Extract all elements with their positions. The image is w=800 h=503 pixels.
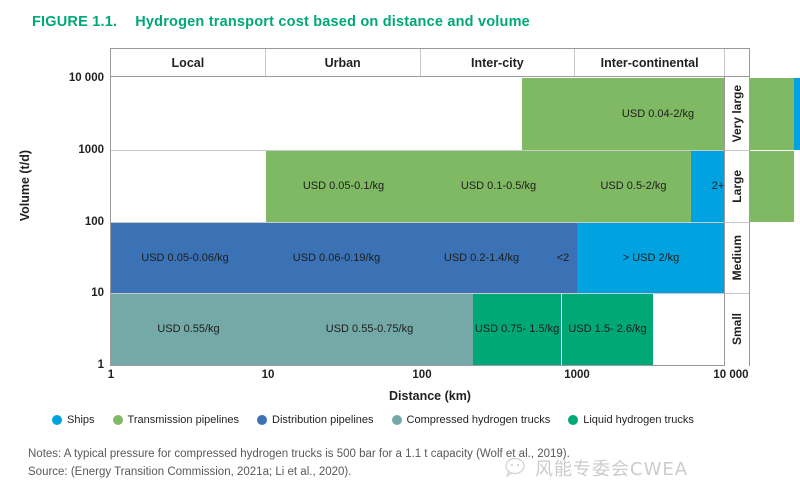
cell-small-liquid-inter-continental: USD 1.5- 2.6/kg <box>561 294 653 365</box>
column-header-spacer <box>725 49 749 76</box>
cell-medium-distribution-inter-continental: <2 <box>549 223 577 293</box>
legend-swatch-compressed-hydrogen-trucks-icon <box>392 415 402 425</box>
cell-very-large-ships: 2+ <box>794 78 800 150</box>
legend-swatch-transmission-pipelines-icon <box>113 415 123 425</box>
plot-body: USD 0.04-2/kg 2+ USD 0.05-0.1/kg USD 0.1… <box>111 77 749 366</box>
column-header-urban: Urban <box>266 49 421 76</box>
figure-notes: Notes: A typical pressure for compressed… <box>28 446 768 482</box>
size-category-gutter: Very large Large Medium Small <box>724 77 749 366</box>
notes-line: Notes: A typical pressure for compressed… <box>28 446 768 464</box>
y-tick-100: 100 <box>85 216 104 228</box>
column-header-local: Local <box>111 49 266 76</box>
size-label-small-text: Small <box>730 313 744 345</box>
y-tick-10: 10 <box>91 287 104 299</box>
size-label-medium: Medium <box>725 223 749 294</box>
cell-small-compressed-urban: USD 0.55-0.75/kg <box>266 294 473 365</box>
legend-label-compressed-hydrogen-trucks: Compressed hydrogen trucks <box>407 414 551 426</box>
y-axis-label: Volume (t/d) <box>18 150 32 221</box>
cell-large-transmission-urban: USD 0.05-0.1/kg <box>266 151 421 222</box>
size-label-very-large: Very large <box>725 77 749 151</box>
size-label-small: Small <box>725 294 749 365</box>
legend-item-compressed-hydrogen-trucks: Compressed hydrogen trucks <box>392 414 551 426</box>
x-tick-1: 1 <box>108 369 114 381</box>
y-axis-ticks: 10 000 1000 100 10 1 <box>0 0 104 503</box>
y-tick-10000: 10 000 <box>69 72 104 84</box>
size-label-medium-text: Medium <box>730 235 744 280</box>
size-label-large-text: Large <box>730 170 744 203</box>
legend-item-ships: Ships <box>52 414 95 426</box>
x-tick-1000: 1000 <box>564 369 590 381</box>
y-tick-1: 1 <box>98 359 104 371</box>
y-tick-1000: 1000 <box>78 144 104 156</box>
column-header-inter-continental: Inter-continental <box>575 49 725 76</box>
legend-label-ships: Ships <box>67 414 95 426</box>
chart-plot-area: Local Urban Inter-city Inter-continental… <box>110 48 750 366</box>
cell-large-transmission-inter-city: USD 0.1-0.5/kg <box>421 151 576 222</box>
x-tick-10000: 10 000 <box>713 369 748 381</box>
cell-medium-distribution-local: USD 0.05-0.06/kg <box>111 223 259 293</box>
figure-title-bar: FIGURE 1.1. Hydrogen transport cost base… <box>32 14 530 30</box>
legend-swatch-ships-icon <box>52 415 62 425</box>
cell-very-large-transmission: USD 0.04-2/kg <box>522 78 794 150</box>
chart-legend: Ships Transmission pipelines Distributio… <box>52 414 752 426</box>
source-line: Source: (Energy Transition Commission, 2… <box>28 464 768 482</box>
page-title: Hydrogen transport cost based on distanc… <box>135 14 530 30</box>
legend-swatch-distribution-pipelines-icon <box>257 415 267 425</box>
cell-medium-distribution-inter-city: USD 0.2-1.4/kg <box>414 223 549 293</box>
legend-label-transmission-pipelines: Transmission pipelines <box>128 414 239 426</box>
cell-medium-ships: > USD 2/kg <box>577 223 725 293</box>
cell-large-transmission-inter-continental: USD 0.5-2/kg <box>576 151 691 222</box>
legend-label-liquid-hydrogen-trucks: Liquid hydrogen trucks <box>583 414 694 426</box>
size-label-large: Large <box>725 151 749 223</box>
x-tick-10: 10 <box>262 369 275 381</box>
cell-small-compressed-local: USD 0.55/kg <box>111 294 266 365</box>
cell-medium-distribution-urban: USD 0.06-0.19/kg <box>259 223 414 293</box>
column-header-inter-city: Inter-city <box>421 49 576 76</box>
size-label-very-large-text: Very large <box>730 85 744 142</box>
x-tick-100: 100 <box>412 369 431 381</box>
x-axis-label: Distance (km) <box>110 389 750 403</box>
column-header-row: Local Urban Inter-city Inter-continental <box>111 49 749 77</box>
legend-item-liquid-hydrogen-trucks: Liquid hydrogen trucks <box>568 414 694 426</box>
legend-item-distribution-pipelines: Distribution pipelines <box>257 414 374 426</box>
cell-small-liquid-inter-city: USD 0.75- 1.5/kg <box>473 294 561 365</box>
legend-item-transmission-pipelines: Transmission pipelines <box>113 414 239 426</box>
legend-label-distribution-pipelines: Distribution pipelines <box>272 414 374 426</box>
legend-swatch-liquid-hydrogen-trucks-icon <box>568 415 578 425</box>
